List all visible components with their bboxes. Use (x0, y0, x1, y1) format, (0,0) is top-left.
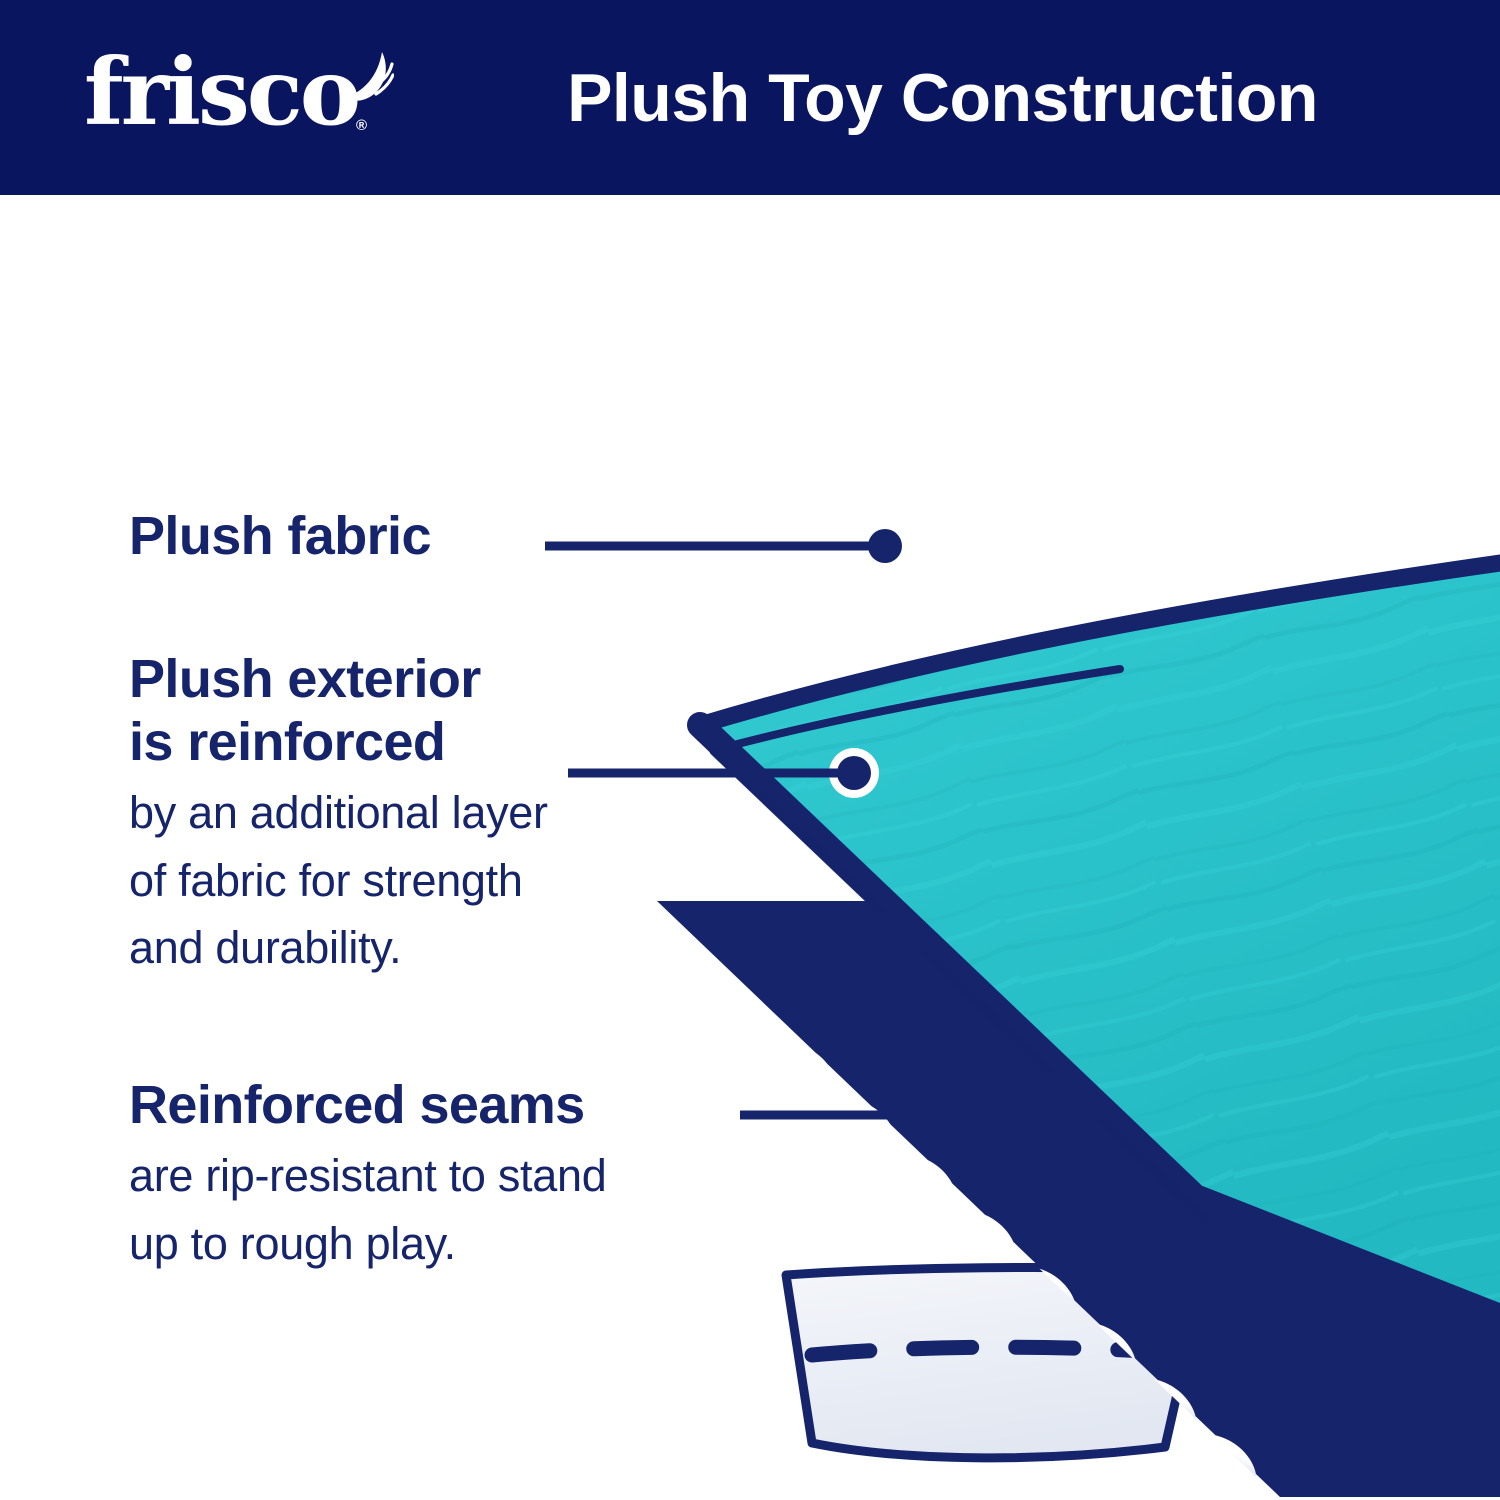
leader-dot-plush-exterior (837, 756, 871, 790)
frisco-logo-wordmark: frisco (84, 46, 358, 138)
callout-plush-exterior-subtext: by an additional layer of fabric for str… (129, 779, 729, 982)
frisco-logo-swoosh-icon (338, 48, 394, 108)
leader-dot-plush-fabric (868, 529, 902, 563)
frisco-logo: frisco ® (84, 44, 384, 154)
callout-plush-fabric: Plush fabric (129, 505, 549, 568)
infographic-page: frisco ® Plush Toy Construction (0, 0, 1500, 1500)
callout-reinforced-seams-subtext: are rip-resistant to stand up to rough p… (129, 1142, 789, 1277)
callout-plush-exterior: Plush exterior is reinforced by an addit… (129, 648, 729, 982)
callout-reinforced-seams: Reinforced seams are rip-resistant to st… (129, 1074, 789, 1277)
page-title: Plush Toy Construction (430, 0, 1455, 195)
callout-reinforced-seams-headline: Reinforced seams (129, 1074, 789, 1137)
callout-plush-fabric-headline: Plush fabric (129, 505, 549, 568)
header-bar: frisco ® Plush Toy Construction (0, 0, 1500, 195)
callout-plush-exterior-headline: Plush exterior is reinforced (129, 648, 729, 774)
leader-dot-reinforced-seams (915, 1098, 949, 1132)
leader-line-plush-fabric (545, 529, 902, 563)
registered-trademark-icon: ® (356, 118, 367, 133)
